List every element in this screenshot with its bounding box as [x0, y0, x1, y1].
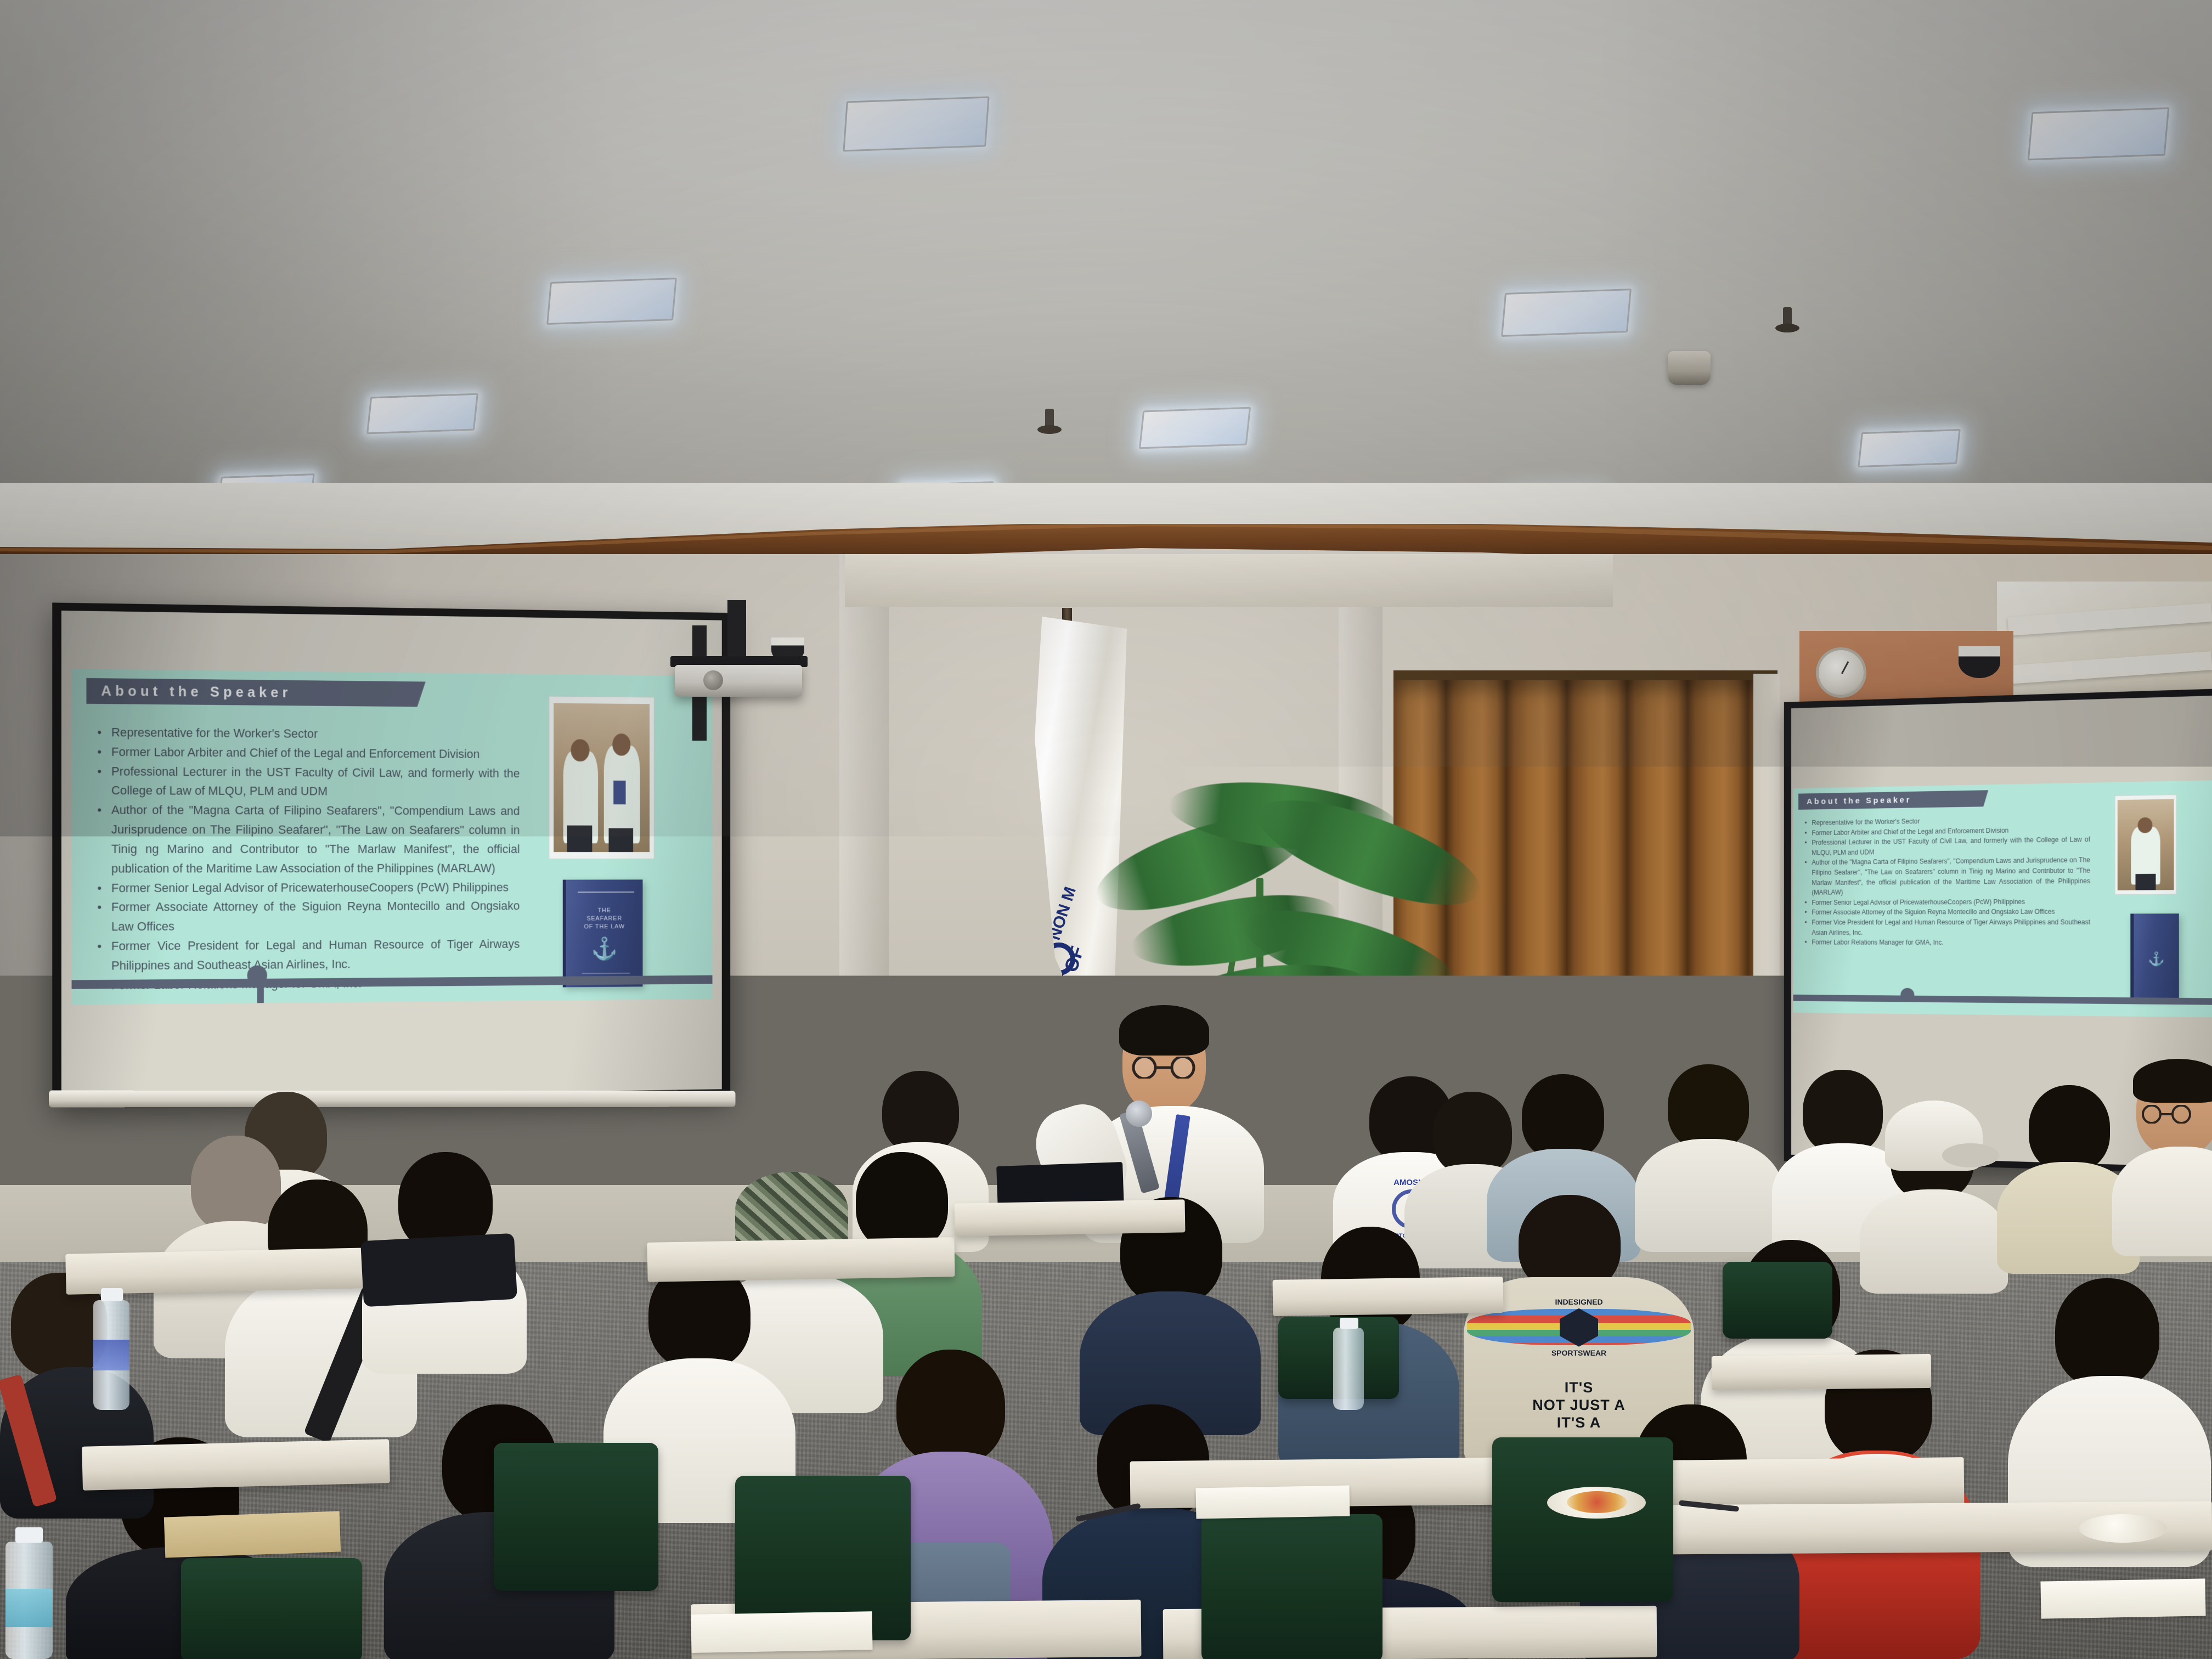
bottle-cap	[15, 1527, 43, 1543]
fire-sprinkler-icon	[1783, 307, 1792, 332]
projection-screen-surface: About the Speaker Representative for the…	[61, 611, 722, 1099]
photo-person-head	[571, 739, 589, 761]
photo-person-legs	[567, 825, 592, 852]
slide-bullet: Former Labor Arbiter and Chief of the Le…	[111, 742, 520, 764]
bottle-cap	[1340, 1318, 1358, 1329]
slide-bullet: Former Associate Attorney of the Siguion…	[111, 897, 520, 937]
patterned-cap	[735, 1172, 848, 1249]
window-slat	[2007, 651, 2212, 684]
slide-speaker-photo	[549, 696, 654, 859]
head	[882, 1071, 959, 1153]
wall-clock-icon	[1816, 647, 1866, 698]
slide-bullet: Former Vice President for Legal and Huma…	[111, 935, 520, 976]
book-top-rule	[578, 891, 634, 893]
wall-beam	[845, 554, 1613, 607]
document-folder	[164, 1511, 341, 1558]
photo-background	[2118, 799, 2174, 890]
stacking-chair	[1492, 1437, 1673, 1602]
anchor-icon: ⚓	[591, 938, 618, 960]
audience-member-with-cap	[1860, 1103, 2008, 1289]
ceiling	[0, 0, 2212, 554]
book-title-text: THE SEAFARER OF THE LAW	[566, 907, 643, 932]
photo-person-legs	[608, 828, 633, 852]
hair	[2133, 1059, 2212, 1103]
ceiling-shading	[0, 0, 2212, 554]
speaker-hair	[1119, 1005, 1209, 1056]
slide-bullet: Former Senior Legal Advisor of Pricewate…	[1812, 896, 2090, 907]
stacking-chair	[1201, 1514, 1383, 1659]
attendee-table	[82, 1439, 390, 1491]
ceiling-light	[2028, 108, 2170, 161]
slide-book-cover: THE SEAFARER OF THE LAW ⚓	[563, 879, 643, 987]
slide-bullet: Former Labor Relations Manager for GMA, …	[1812, 938, 2090, 948]
slide-bullet: Former Senior Legal Advisor of Pricewate…	[111, 878, 520, 898]
head	[896, 1350, 1005, 1465]
water-bottle	[5, 1542, 53, 1659]
ceiling-light	[1858, 429, 1961, 467]
slide-bullet: Former Associate Attorney of the Siguion…	[1812, 907, 2090, 918]
slide-footer-dot	[247, 966, 267, 986]
ceiling-light	[546, 278, 677, 325]
attendee-table	[647, 1237, 955, 1282]
cap-brim	[1942, 1143, 1999, 1167]
handout-paper	[2040, 1578, 2205, 1618]
head	[2029, 1085, 2110, 1172]
head	[2055, 1278, 2159, 1388]
photo-person-head	[2138, 817, 2153, 833]
slide-bullet: Author of the "Magna Carta of Filipino S…	[1812, 855, 2090, 898]
photo-person-head	[612, 733, 630, 756]
head	[1668, 1064, 1749, 1150]
slide-bullet-list: Representative for the Worker's Sector F…	[111, 723, 520, 995]
secondary-slide-bullet-list: Representative for the Worker's Sector F…	[1812, 814, 2090, 948]
bottle-label	[5, 1589, 53, 1627]
projection-screen-frame: About the Speaker Representative for the…	[52, 602, 730, 1107]
seminar-room-photo: About the Speaker Representative for the…	[0, 0, 2212, 1659]
anchor-icon: ⚓	[2148, 953, 2165, 967]
document-folder	[142, 1342, 325, 1392]
attendee-table	[955, 1199, 1186, 1236]
presentation-slide: About the Speaker Representative for the…	[72, 669, 713, 1005]
attendee-table	[1712, 1354, 1932, 1390]
ceiling-light	[1501, 289, 1632, 337]
torso	[2112, 1147, 2212, 1256]
photo-background	[554, 703, 650, 853]
sweatshirt-brand-mark: INDESIGNED SPORTSWEAR	[1530, 1298, 1628, 1357]
window-slat	[2007, 603, 2212, 636]
slide-bullet: Representative for the Worker's Sector	[111, 723, 520, 745]
audience-member-with-glasses	[2112, 1064, 2212, 1256]
head	[1522, 1074, 1604, 1160]
secondary-footer-dot	[1900, 988, 1914, 1002]
book-bottom-rule	[582, 973, 630, 974]
screen-roller-bar	[49, 1091, 736, 1108]
secondary-slide-photo	[2115, 794, 2177, 895]
shoulder-bag	[360, 1233, 517, 1307]
projector-lens-icon	[703, 670, 723, 690]
microphone-head-icon	[1126, 1101, 1152, 1127]
photo-held-book	[613, 781, 626, 804]
stacking-chair	[181, 1558, 362, 1659]
eyeglasses-icon	[2138, 1105, 2197, 1124]
secondary-slide-book: ⚓	[2130, 913, 2179, 998]
slide-bullet: Author of the "Magna Carta of Filipino S…	[111, 801, 520, 879]
secondary-slide-title: About the Speaker	[1807, 795, 1911, 806]
eyeglasses-icon	[1126, 1057, 1204, 1079]
stacking-chair	[494, 1443, 658, 1591]
snack-food	[1567, 1491, 1627, 1513]
slide-bullet: Professional Lecturer in the UST Faculty…	[111, 762, 520, 802]
brand-emblem-icon	[1560, 1308, 1598, 1347]
slide-title: About the Speaker	[101, 683, 291, 701]
photo-person-legs	[2136, 874, 2156, 890]
snack-plate	[2079, 1514, 2167, 1543]
projector	[675, 665, 802, 697]
ceiling-light	[1139, 407, 1251, 449]
slide-title-bar: About the Speaker	[86, 678, 425, 707]
water-bottle	[93, 1300, 129, 1410]
fire-sprinkler-icon	[1045, 409, 1054, 428]
water-bottle	[1333, 1328, 1364, 1410]
security-camera-icon	[1959, 646, 2000, 678]
attendee-table	[1273, 1277, 1504, 1316]
projector-ceiling-mount	[727, 600, 746, 661]
slide-bullet: Former Vice President for Legal and Huma…	[1812, 917, 2090, 938]
handout-paper	[1196, 1486, 1350, 1519]
ceiling-light	[843, 96, 989, 151]
torso	[1860, 1189, 2008, 1294]
secondary-presentation-slide: About the Speaker Representative for the…	[1793, 780, 2212, 1017]
snack-plate	[1547, 1487, 1646, 1519]
stacking-chair	[1723, 1262, 1832, 1339]
slide-bullet: Professional Lecturer in the UST Faculty…	[1812, 834, 2090, 858]
handout-paper	[115, 1259, 297, 1297]
secondary-slide-title-bar: About the Speaker	[1798, 790, 1988, 810]
ceiling-light	[366, 393, 478, 435]
smoke-detector-icon	[1668, 351, 1711, 385]
bottle-label	[93, 1340, 129, 1370]
handout-paper	[691, 1611, 872, 1653]
